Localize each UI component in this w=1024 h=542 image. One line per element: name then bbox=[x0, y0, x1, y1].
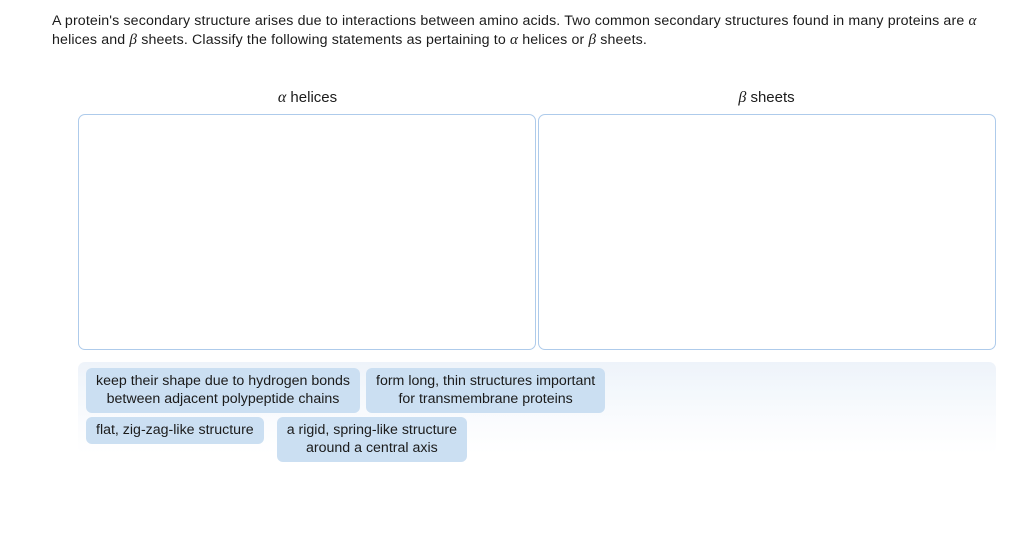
prompt-text-segment: sheets. Classify the following statement… bbox=[137, 32, 510, 48]
answer-tile[interactable]: keep their shape due to hydrogen bonds b… bbox=[86, 368, 360, 413]
answer-tile[interactable]: form long, thin structures important for… bbox=[366, 368, 605, 413]
prompt-text-segment: A protein's secondary structure arises d… bbox=[52, 13, 968, 29]
answer-tile[interactable]: a rigid, spring-like structure around a … bbox=[277, 417, 467, 462]
dropzone-beta-sheets[interactable] bbox=[538, 114, 996, 350]
category-header-alpha-helices: α helices bbox=[78, 88, 537, 112]
question-prompt: A protein's secondary structure arises d… bbox=[52, 12, 996, 49]
category-header-beta-sheets: β sheets bbox=[537, 88, 996, 112]
category-headers: α helices β sheets bbox=[78, 88, 996, 112]
answer-bank-row: keep their shape due to hydrogen bonds b… bbox=[86, 368, 996, 413]
alpha-symbol: α bbox=[510, 31, 518, 48]
prompt-text-segment: sheets. bbox=[596, 32, 647, 48]
answer-bank-row: flat, zig-zag-like structure a rigid, sp… bbox=[86, 417, 996, 462]
prompt-text-segment: helices or bbox=[518, 32, 588, 48]
dropzone-container bbox=[78, 114, 996, 350]
alpha-symbol: α bbox=[968, 12, 976, 29]
beta-symbol: β bbox=[588, 31, 596, 48]
dropzone-alpha-helices[interactable] bbox=[78, 114, 536, 350]
answer-bank: keep their shape due to hydrogen bonds b… bbox=[78, 362, 996, 454]
beta-symbol: β bbox=[129, 31, 137, 48]
alpha-symbol: α bbox=[278, 89, 286, 106]
category-header-label: sheets bbox=[746, 89, 794, 106]
answer-tile[interactable]: flat, zig-zag-like structure bbox=[86, 417, 264, 444]
prompt-text-segment: helices and bbox=[52, 32, 129, 48]
category-header-label: helices bbox=[286, 89, 337, 106]
